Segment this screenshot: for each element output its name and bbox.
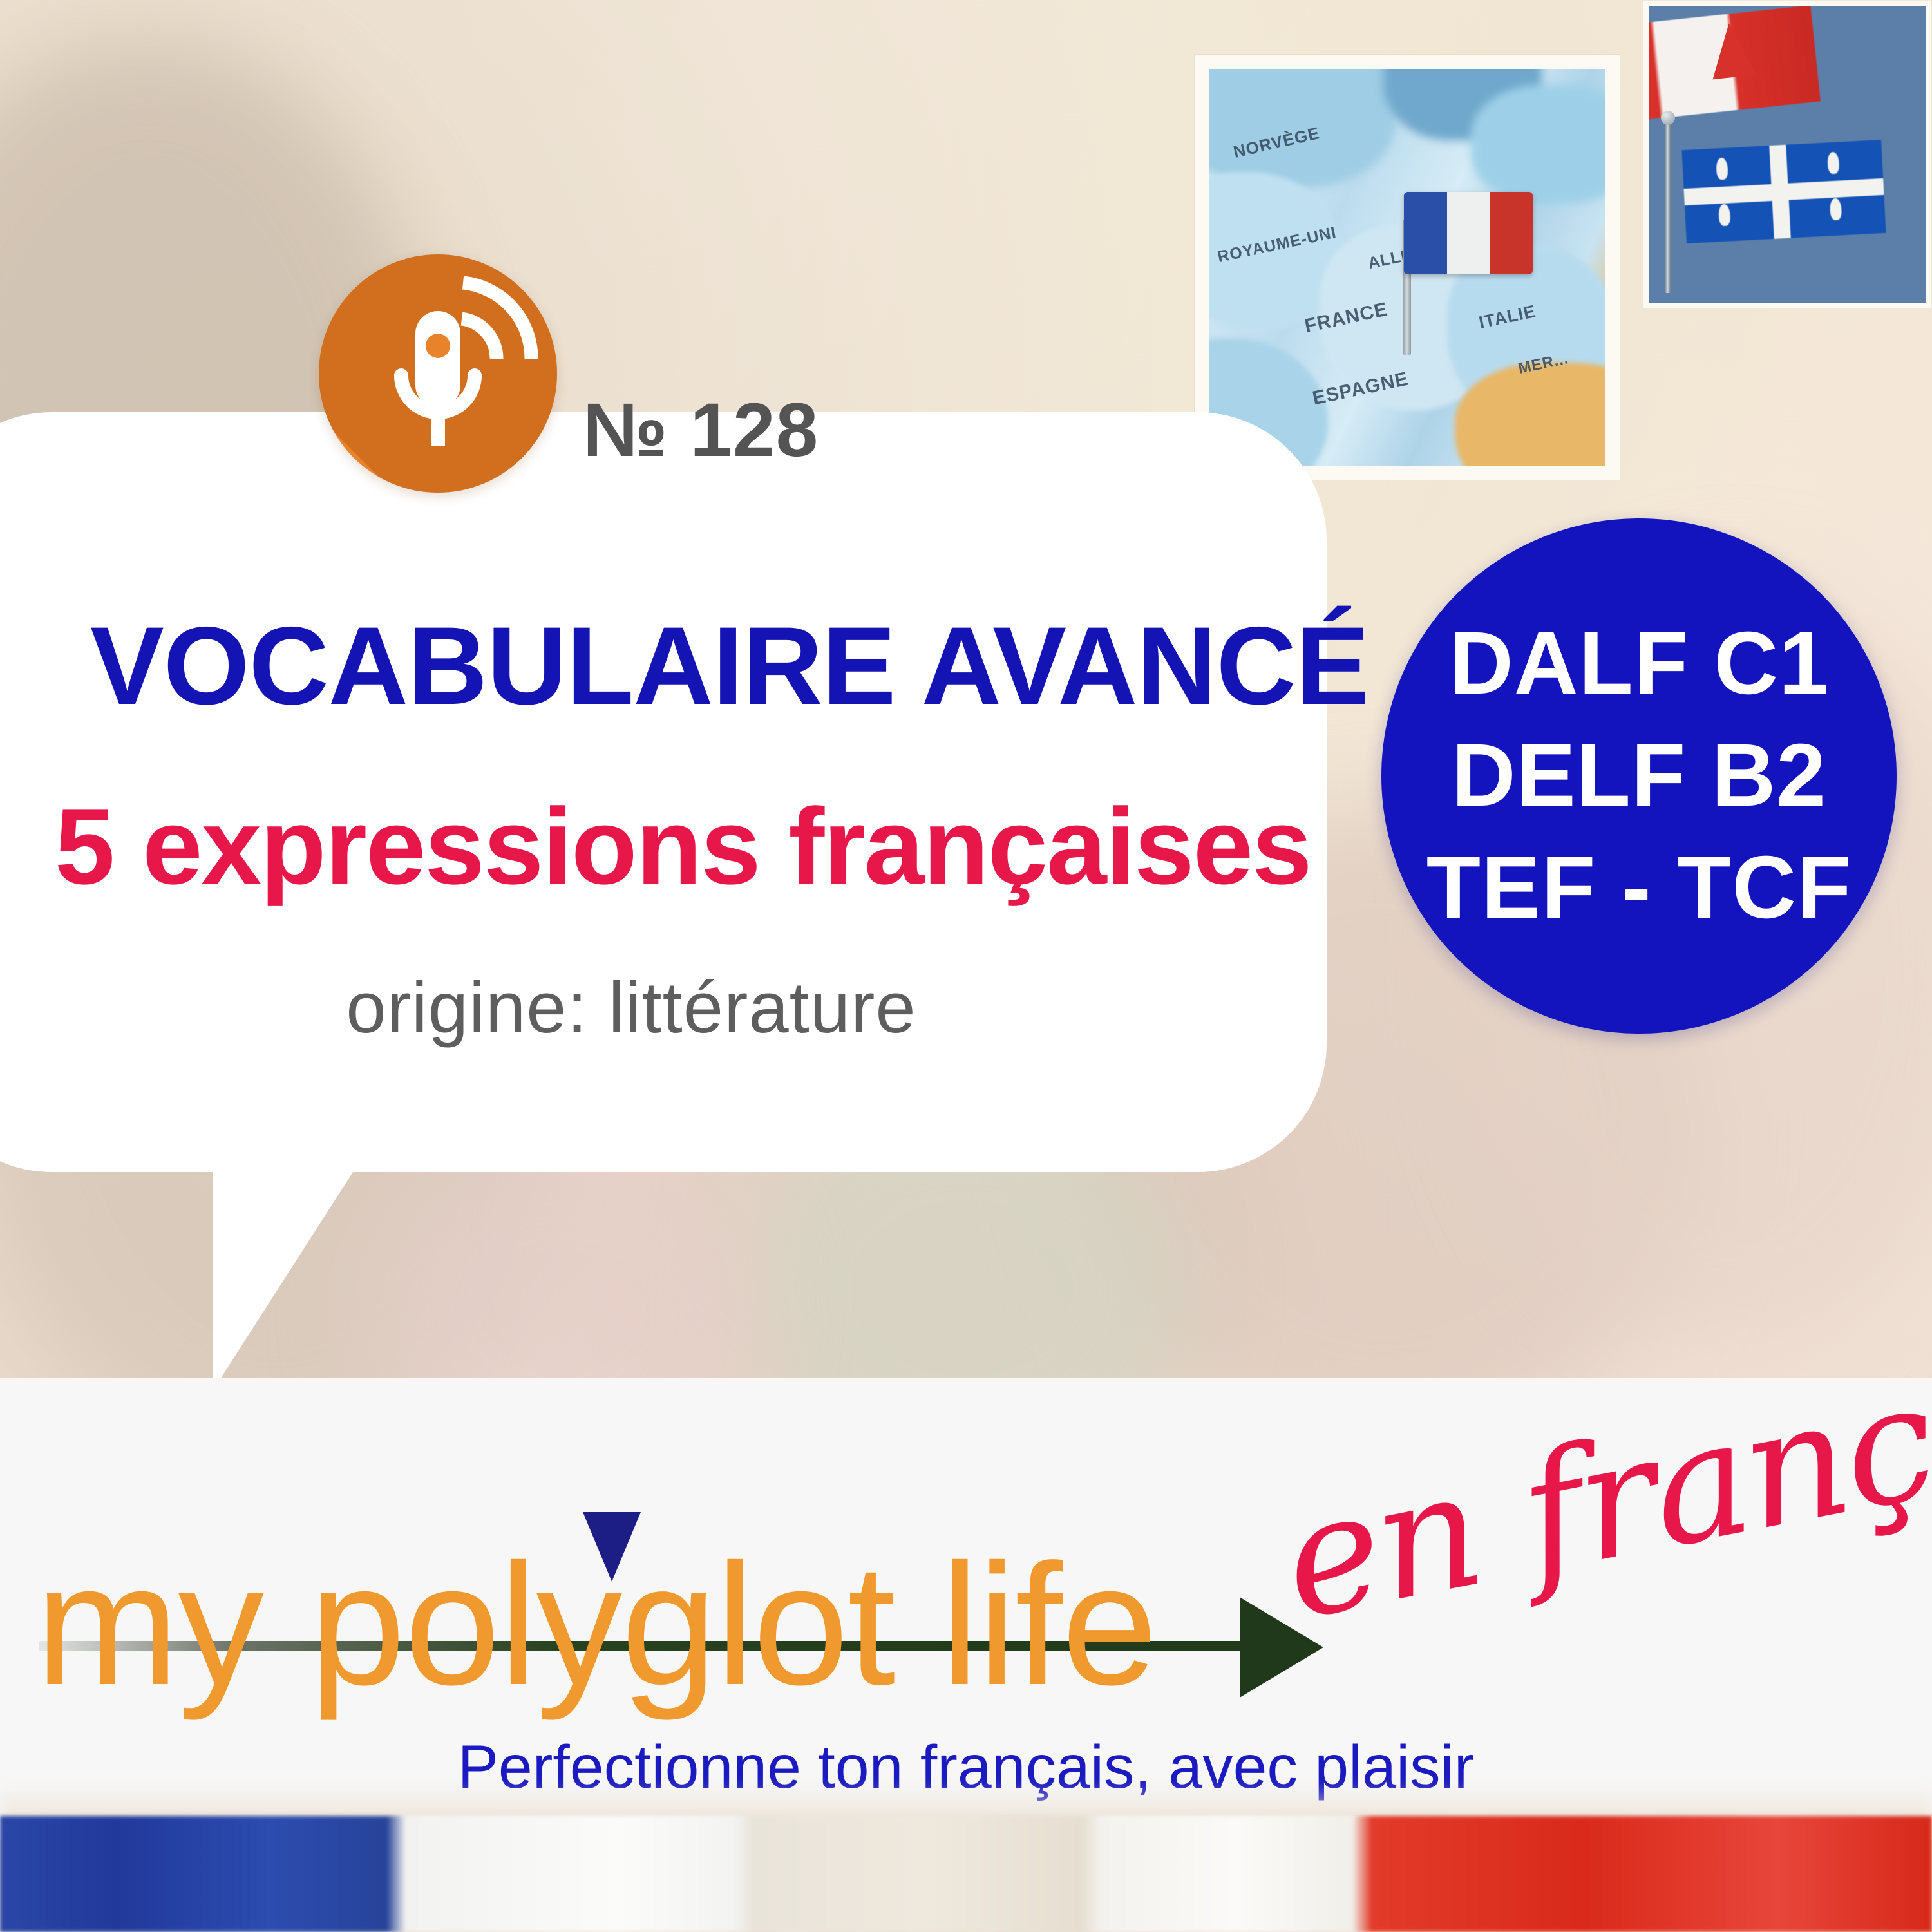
flag-pole	[1665, 119, 1671, 293]
europe-map-photo: NORVÈGE ROYAUME-UNI ALLEMAGNE FRANCE ESP…	[1209, 69, 1605, 466]
episode-number: № 128	[583, 386, 819, 474]
exam-line-tef-tcf: TEF - TCF	[1426, 832, 1852, 944]
page-subtitle: 5 expressions françaises	[55, 784, 1343, 909]
canada-quebec-flags-photo	[1649, 6, 1926, 303]
france-flag-pin-icon	[1404, 192, 1533, 274]
quebec-flag-icon	[1681, 140, 1886, 243]
exam-line-dalf: DALF C1	[1449, 608, 1829, 720]
origin-label: origine: littérature	[0, 966, 1262, 1049]
flag-pole-finial	[1661, 111, 1675, 125]
logo-caret-icon	[583, 1512, 641, 1582]
speech-bubble-tail	[213, 1140, 374, 1391]
europe-map-stamp: NORVÈGE ROYAUME-UNI ALLEMAGNE FRANCE ESP…	[1195, 55, 1620, 480]
page-title: VOCABULAIRE AVANCÉ	[90, 602, 1340, 730]
podcast-microphone-icon	[319, 254, 557, 493]
france-flag-strip	[0, 1816, 1932, 1932]
exam-level-badge: DALF C1 DELF B2 TEF - TCF	[1381, 518, 1897, 1034]
maple-leaf-icon	[1707, 21, 1756, 80]
podcast-cover-image: NORVÈGE ROYAUME-UNI ALLEMAGNE FRANCE ESP…	[0, 0, 1932, 1932]
exam-line-delf: DELF B2	[1452, 720, 1826, 832]
